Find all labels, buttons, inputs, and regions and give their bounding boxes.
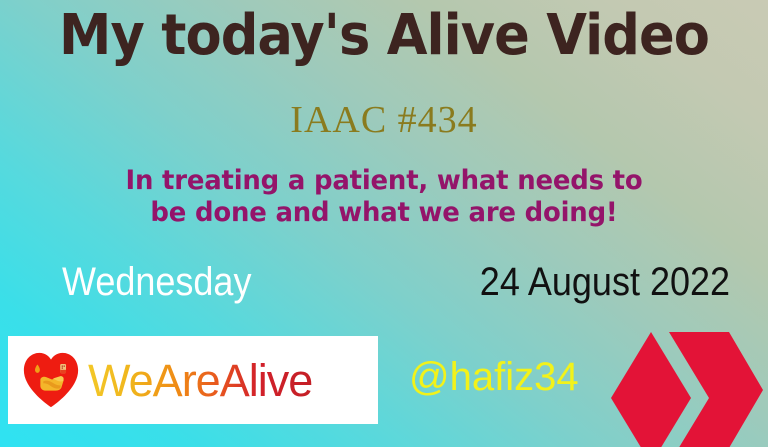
hive-logo-icon [605,328,763,447]
question-line-1: In treating a patient, what needs to [15,165,752,197]
page-title: My today's Alive Video [23,8,745,64]
wearealive-wordmark: WeAreAlive [88,358,312,403]
author-handle: @hafiz34 [409,357,579,397]
contest-tag: IAAC #434 [0,101,768,139]
question-text: In treating a patient, what needs to be … [15,165,752,229]
alive-video-poster: My today's Alive Video IAAC #434 In trea… [0,0,768,447]
wearealive-logo-card: WeAreAlive [8,336,378,424]
question-line-2: be done and what we are doing! [15,197,752,229]
day-name: Wednesday [62,262,251,302]
heart-handshake-icon [20,349,82,411]
date-text: 24 August 2022 [480,262,730,302]
